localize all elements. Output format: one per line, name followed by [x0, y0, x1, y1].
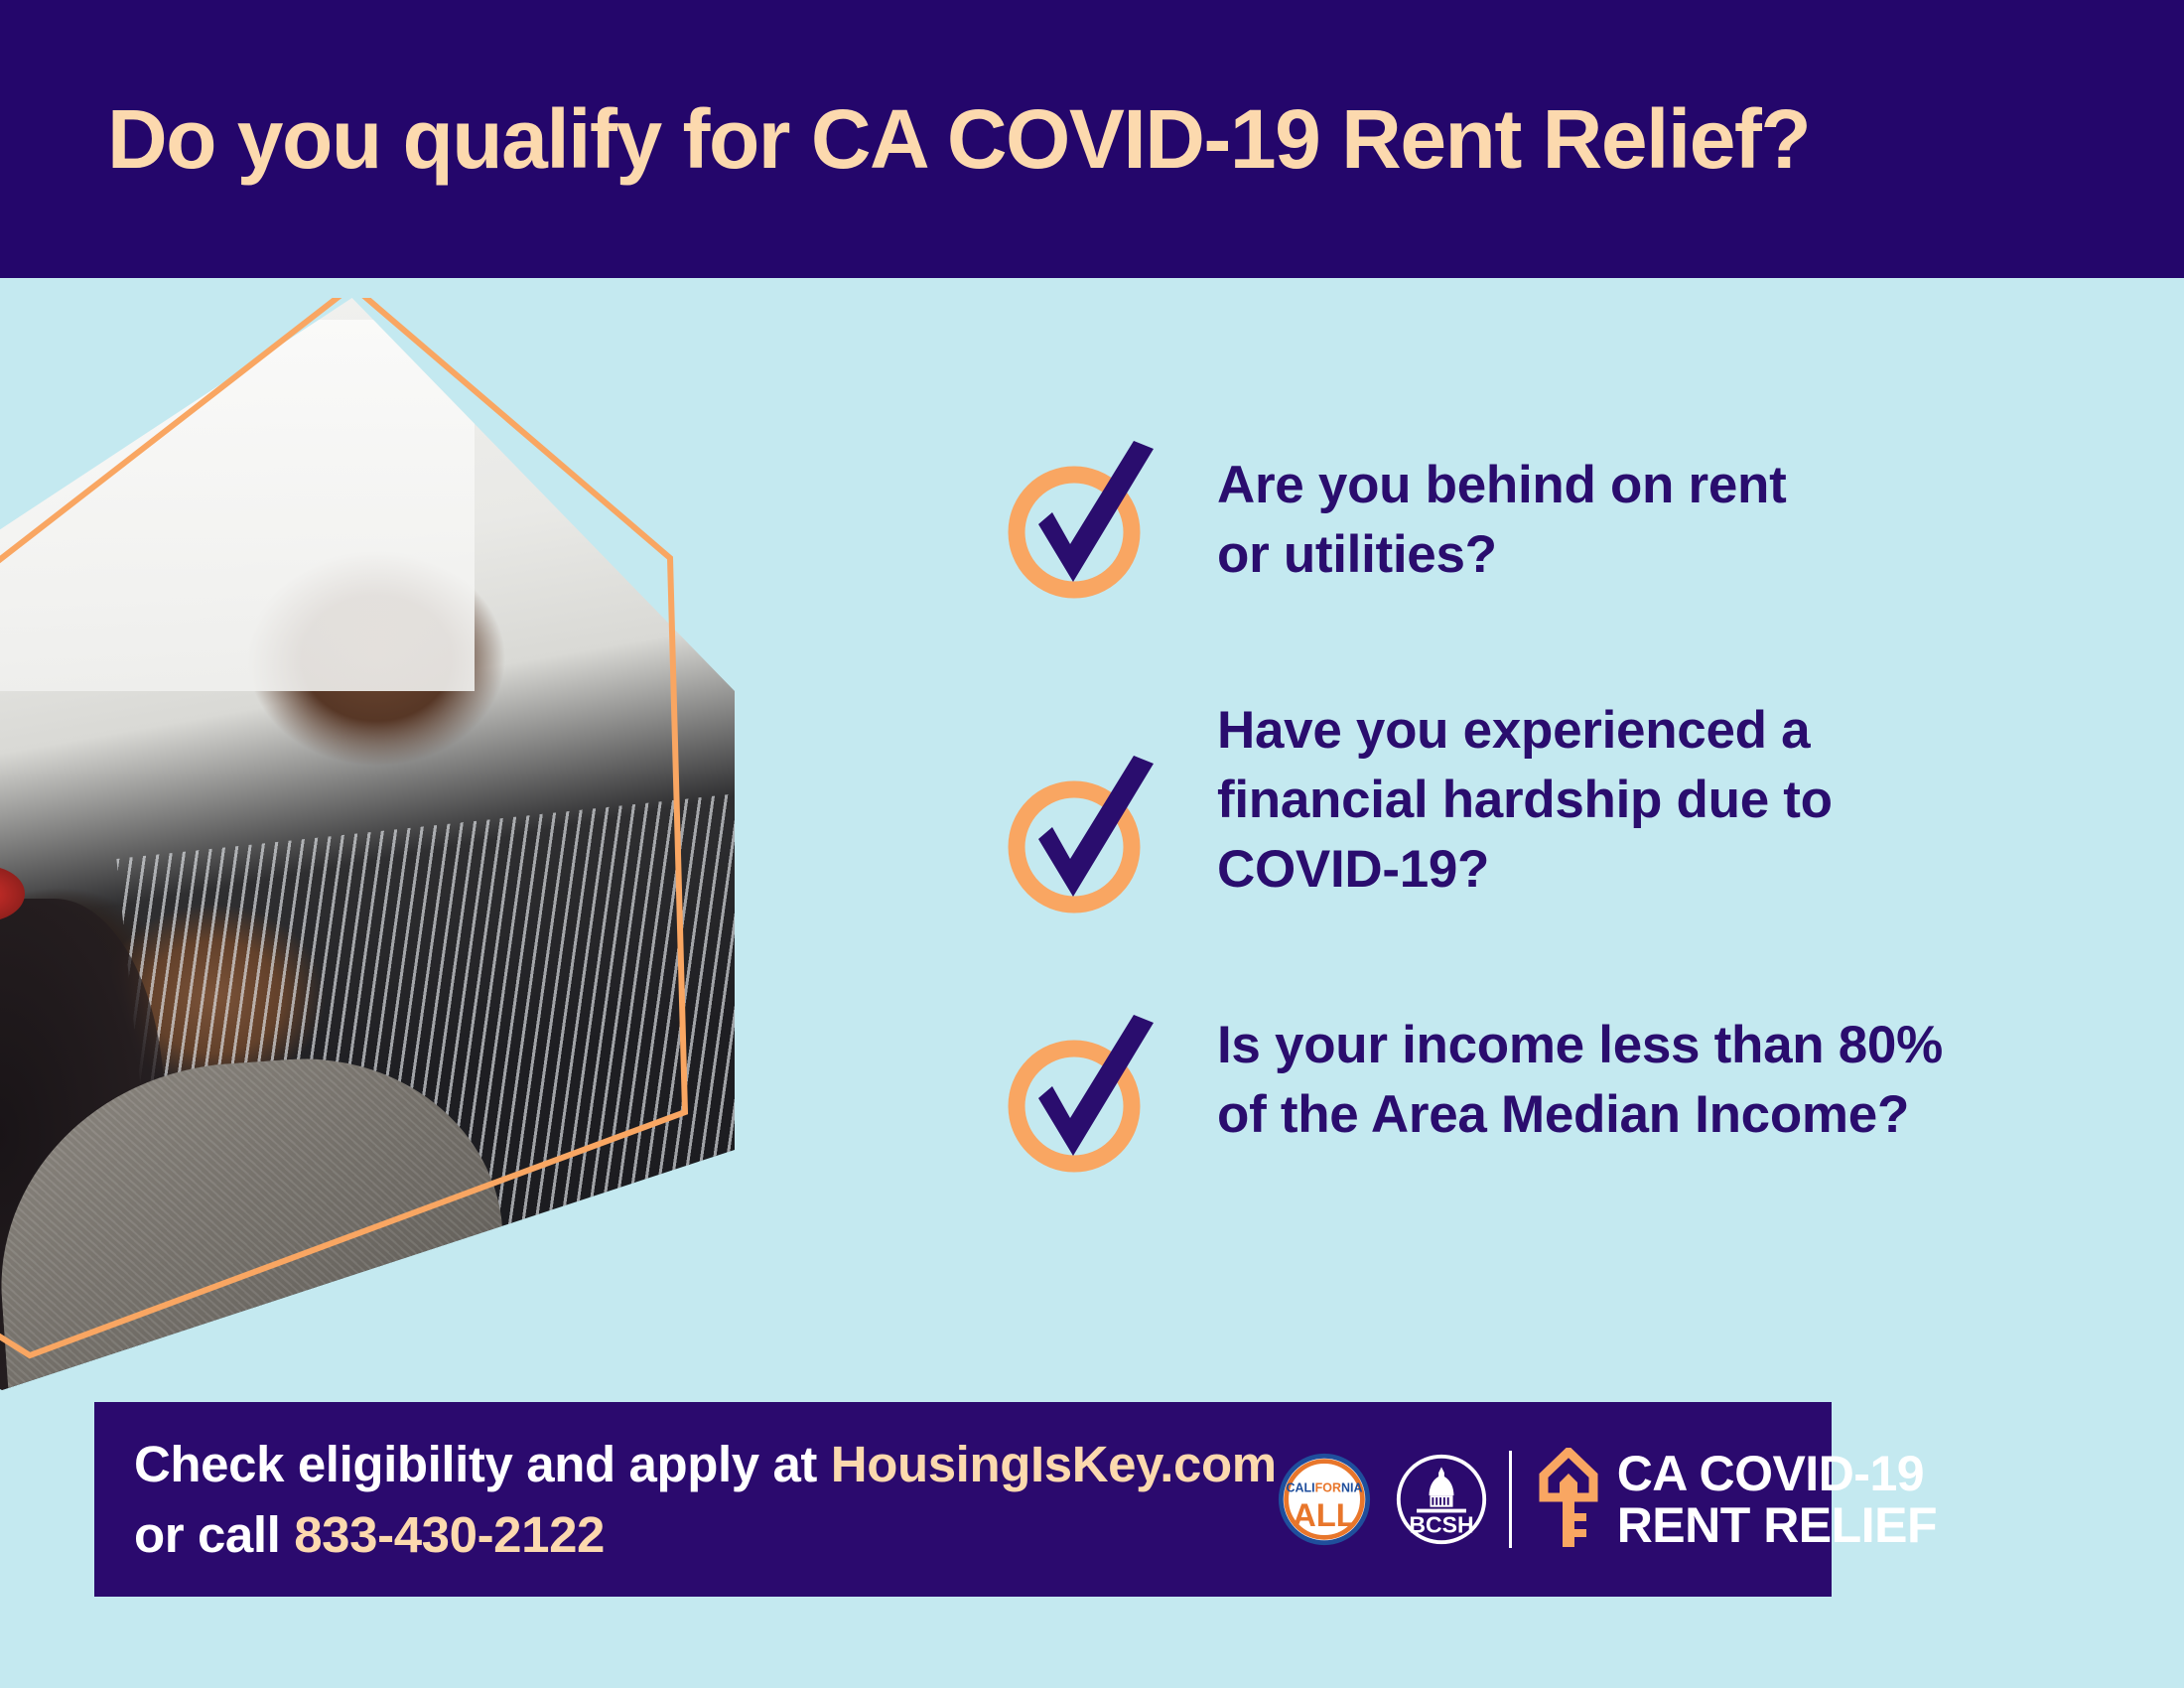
checklist-item-text: Have you experienced a financial hardshi…: [1217, 682, 1833, 905]
checklist-line-1: Are you behind on rent: [1217, 451, 1786, 520]
footer-line-2-prefix: or call: [134, 1506, 294, 1563]
checklist-item: Have you experienced a financial hardshi…: [1003, 682, 2115, 919]
checklist-line-3: COVID-19?: [1217, 835, 1833, 905]
rent-relief-wordmark: CA COVID-19 RENT RELIEF: [1617, 1448, 1937, 1551]
wordmark-line-1: CA COVID-19: [1617, 1448, 1937, 1499]
hero-photo-frame: [0, 298, 735, 1390]
website-link[interactable]: HousingIsKey.com: [831, 1436, 1277, 1492]
page-header: Do you qualify for CA COVID-19 Rent Reli…: [0, 0, 2184, 278]
eligibility-checklist: Are you behind on rent or utilities? Hav…: [1003, 437, 2115, 1179]
checklist-item: Is your income less than 80% of the Area…: [1003, 997, 2115, 1179]
orange-circle-check-icon: [1003, 756, 1171, 919]
checklist-item-text: Is your income less than 80% of the Area…: [1217, 997, 1943, 1150]
footer-logo-group: CALIFORNIA ALL BCSH CA COVID-19: [1277, 1448, 1979, 1551]
bcsh-logo-icon: BCSH: [1394, 1452, 1489, 1547]
photo-window-layer: [0, 320, 475, 691]
checklist-line-2: financial hardship due to: [1217, 766, 1833, 835]
checklist-line-2: of the Area Median Income?: [1217, 1080, 1943, 1150]
hero-photo: [0, 298, 735, 1390]
footer-line-1: Check eligibility and apply at HousingIs…: [134, 1429, 1277, 1499]
checklist-item-text: Are you behind on rent or utilities?: [1217, 437, 1786, 590]
orange-circle-check-icon: [1003, 1015, 1171, 1179]
checklist-line-2: or utilities?: [1217, 520, 1786, 590]
checklist-line-1: Have you experienced a: [1217, 696, 1833, 766]
california-all-logo-icon: CALIFORNIA ALL: [1277, 1452, 1372, 1547]
wordmark-line-2: RENT RELIEF: [1617, 1499, 1937, 1551]
footer-cta-bar: Check eligibility and apply at HousingIs…: [94, 1402, 1832, 1597]
svg-text:ALL: ALL: [1293, 1496, 1355, 1533]
house-key-icon: [1538, 1448, 1599, 1551]
logo-divider: [1509, 1451, 1512, 1548]
checklist-line-1: Is your income less than 80%: [1217, 1011, 1943, 1080]
svg-text:CALIFORNIA: CALIFORNIA: [1286, 1480, 1362, 1494]
checklist-item: Are you behind on rent or utilities?: [1003, 437, 2115, 605]
svg-text:BCSH: BCSH: [1409, 1512, 1473, 1538]
page-title: Do you qualify for CA COVID-19 Rent Reli…: [0, 91, 1810, 188]
phone-number-link[interactable]: 833-430-2122: [294, 1506, 605, 1563]
footer-contact-text: Check eligibility and apply at HousingIs…: [94, 1429, 1277, 1571]
orange-circle-check-icon: [1003, 441, 1171, 605]
footer-line-1-prefix: Check eligibility and apply at: [134, 1436, 831, 1492]
footer-line-2: or call 833-430-2122: [134, 1499, 1277, 1570]
